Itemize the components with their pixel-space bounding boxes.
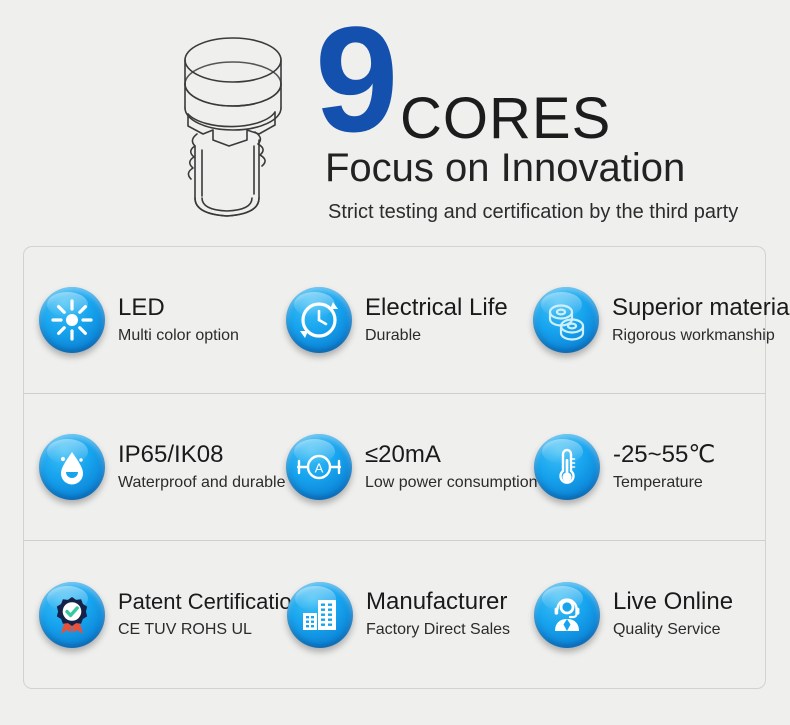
cell-text: Live Online Quality Service: [613, 588, 733, 641]
sun-icon: [39, 287, 105, 353]
cell-text: ≤20mA Low power consumption: [365, 441, 538, 494]
feature-cell-manufacturer: Manufacturer Factory Direct Sales: [287, 541, 534, 688]
feature-title: Live Online: [613, 588, 733, 616]
feature-cell-ip65: IP65/IK08 Waterproof and durable: [24, 394, 286, 540]
feature-title: Superior materials: [612, 294, 790, 322]
feature-subtitle: CE TUV ROHS UL: [118, 619, 304, 641]
feature-title: IP65/IK08: [118, 441, 286, 469]
feature-row: IP65/IK08 Waterproof and durable: [24, 394, 765, 541]
feature-cell-live-online: Live Online Quality Service: [534, 541, 765, 688]
factory-buildings-icon: [287, 582, 353, 648]
feature-row: Patent Certification CE TUV ROHS UL: [24, 541, 765, 688]
infographic-page: 9 CORES Focus on Innovation Strict testi…: [0, 0, 790, 725]
feature-title: Patent Certification: [118, 588, 304, 616]
headset-agent-icon: [534, 582, 600, 648]
indicator-light-line-drawing: [155, 22, 305, 232]
feature-title: Manufacturer: [366, 588, 510, 616]
feature-cell-temperature: -25~55℃ Temperature: [534, 394, 765, 540]
subtagline: Strict testing and certification by the …: [328, 200, 738, 224]
cell-text: IP65/IK08 Waterproof and durable: [118, 441, 286, 494]
feature-cell-led: LED Multi color option: [24, 247, 286, 393]
feature-subtitle: Quality Service: [613, 619, 733, 641]
clock-icon: [286, 287, 352, 353]
feature-subtitle: Factory Direct Sales: [366, 619, 510, 641]
cores-word: CORES: [400, 90, 611, 148]
feature-title: -25~55℃: [613, 441, 715, 469]
feature-subtitle: Rigorous workmanship: [612, 325, 790, 347]
cell-text: LED Multi color option: [118, 294, 239, 347]
feature-title: LED: [118, 294, 239, 322]
water-drop-icon: [39, 434, 105, 500]
certificate-badge-icon: [39, 582, 105, 648]
cell-text: -25~55℃ Temperature: [613, 441, 715, 494]
feature-panel: LED Multi color option: [23, 246, 766, 689]
feature-subtitle: Temperature: [613, 472, 715, 494]
feature-title: Electrical Life: [365, 294, 508, 322]
cell-text: Electrical Life Durable: [365, 294, 508, 347]
feature-title: ≤20mA: [365, 441, 538, 469]
nine-cores-row: 9 CORES: [315, 18, 785, 148]
ammeter-icon: A: [286, 434, 352, 500]
coils-icon: [533, 287, 599, 353]
big-number-nine: 9: [315, 4, 394, 154]
feature-subtitle: Low power consumption: [365, 472, 538, 494]
header-section: 9 CORES Focus on Innovation Strict testi…: [0, 0, 790, 240]
svg-text:A: A: [315, 461, 324, 476]
thermometer-icon: [534, 434, 600, 500]
cell-text: Patent Certification CE TUV ROHS UL: [118, 588, 304, 641]
cell-text: Manufacturer Factory Direct Sales: [366, 588, 510, 641]
tagline: Focus on Innovation: [325, 146, 685, 190]
feature-subtitle: Waterproof and durable: [118, 472, 286, 494]
feature-subtitle: Multi color option: [118, 325, 239, 347]
feature-subtitle: Durable: [365, 325, 508, 347]
feature-cell-superior-materials: Superior materials Rigorous workmanship: [533, 247, 765, 393]
feature-row: LED Multi color option: [24, 247, 765, 394]
feature-cell-electrical-life: Electrical Life Durable: [286, 247, 533, 393]
headline-block: 9 CORES Focus on Innovation Strict testi…: [315, 18, 785, 233]
feature-cell-certification: Patent Certification CE TUV ROHS UL: [24, 541, 287, 688]
feature-cell-current: A ≤20mA Low power consumption: [286, 394, 534, 540]
cell-text: Superior materials Rigorous workmanship: [612, 294, 790, 347]
